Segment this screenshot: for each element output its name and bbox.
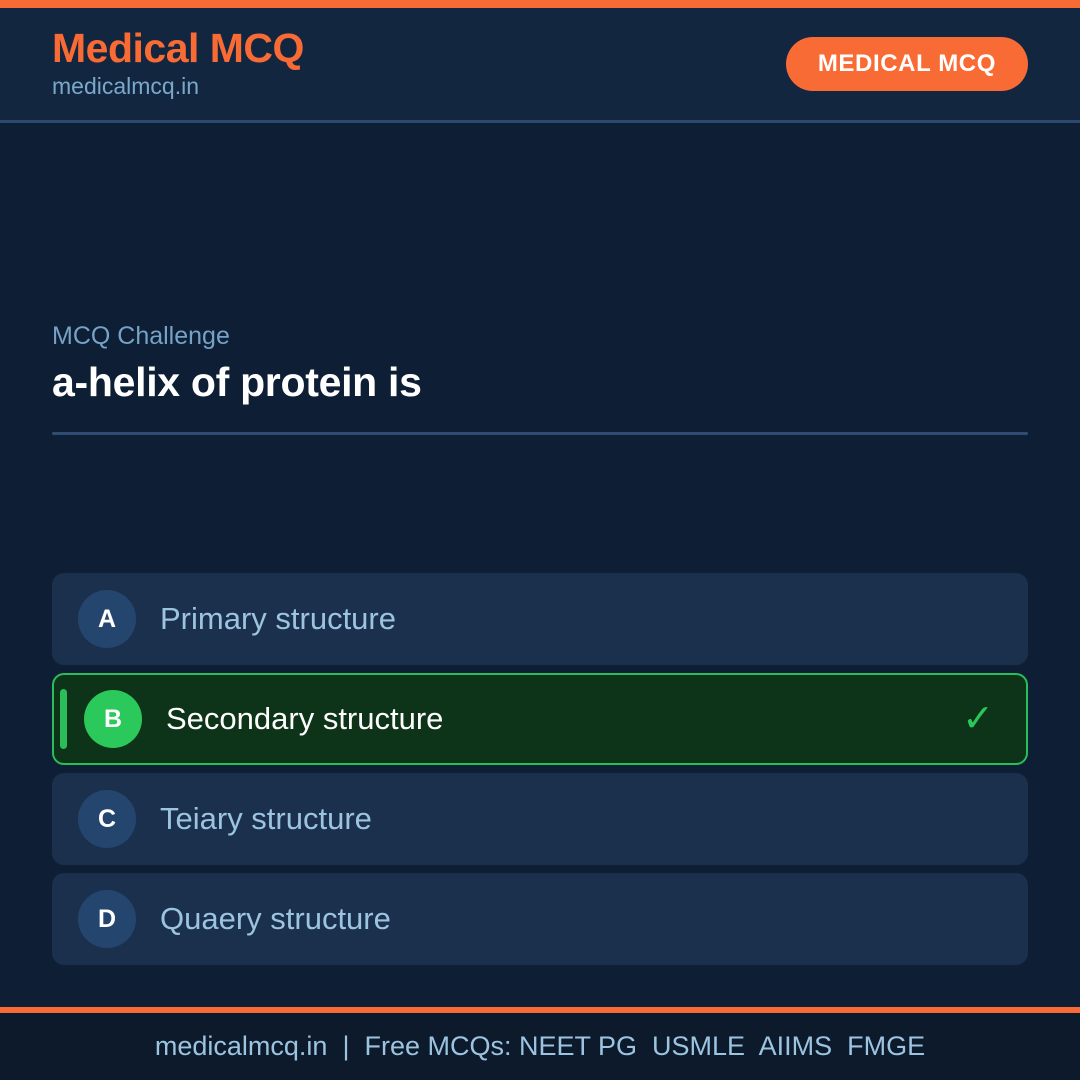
option-label: Secondary structure: [166, 700, 962, 737]
footer-bar: medicalmcq.in | Free MCQs: NEET PG USMLE…: [0, 1013, 1080, 1080]
footer-exams: NEET PG USMLE AIIMS FMGE: [519, 1033, 925, 1060]
page-footer: medicalmcq.in | Free MCQs: NEET PG USMLE…: [0, 1007, 1080, 1080]
mcq-card: Medical MCQ medicalmcq.in MEDICAL MCQ MC…: [0, 0, 1080, 1080]
option-letter-badge: B: [84, 690, 142, 748]
option-letter-badge: D: [78, 890, 136, 948]
question-block: MCQ Challenge a-helix of protein is: [52, 321, 1028, 435]
question-eyebrow: MCQ Challenge: [52, 321, 1028, 351]
option-b[interactable]: B Secondary structure ✓: [52, 673, 1028, 765]
footer-separator: |: [327, 1033, 364, 1060]
page-header: Medical MCQ medicalmcq.in MEDICAL MCQ: [0, 8, 1080, 123]
footer-site: medicalmcq.in: [155, 1033, 328, 1060]
option-letter-badge: C: [78, 790, 136, 848]
selected-accent-bar: [60, 689, 67, 749]
check-icon: ✓: [962, 700, 994, 738]
option-a[interactable]: A Primary structure: [52, 573, 1028, 665]
option-label: Quaery structure: [160, 900, 996, 937]
brand-title: Medical MCQ: [52, 26, 304, 70]
brand-subtitle: medicalmcq.in: [52, 72, 304, 102]
header-badge: MEDICAL MCQ: [786, 37, 1028, 91]
options-list: A Primary structure B Secondary structur…: [52, 573, 1028, 965]
option-label: Primary structure: [160, 600, 996, 637]
question-divider: [52, 432, 1028, 435]
question-text: a-helix of protein is: [52, 358, 1028, 407]
main-content: MCQ Challenge a-helix of protein is A Pr…: [0, 123, 1080, 1007]
option-c[interactable]: C Teiary structure: [52, 773, 1028, 865]
top-accent-bar: [0, 0, 1080, 8]
brand-block: Medical MCQ medicalmcq.in: [52, 26, 304, 102]
option-label: Teiary structure: [160, 800, 996, 837]
option-letter-badge: A: [78, 590, 136, 648]
option-d[interactable]: D Quaery structure: [52, 873, 1028, 965]
footer-exams-label: Free MCQs:: [364, 1033, 519, 1060]
